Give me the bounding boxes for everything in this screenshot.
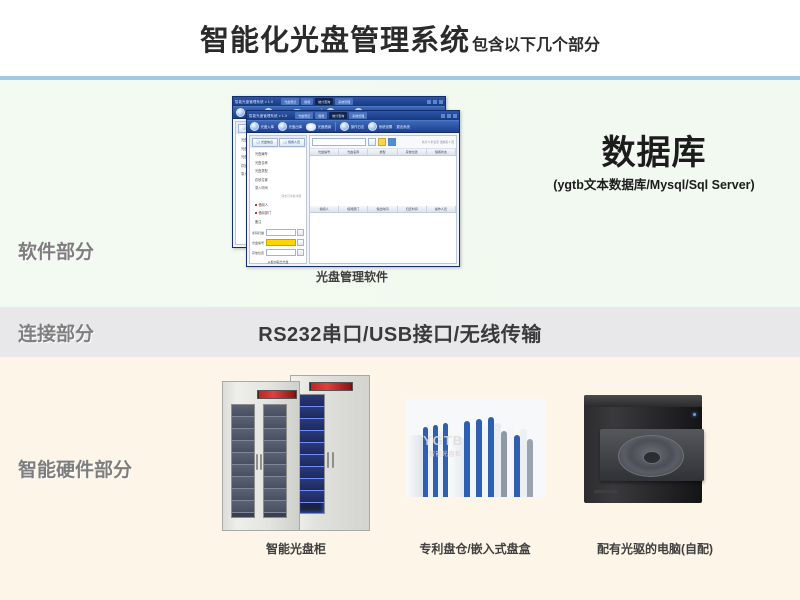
sidebar-tab-label: 借阅人员	[288, 140, 300, 144]
toolbar-label: 操作日志	[351, 124, 365, 129]
column-header: 光盘名称	[339, 149, 368, 155]
sidebar-field: 存放位置	[252, 177, 304, 182]
pc-front-slot	[594, 490, 618, 493]
page-title: 智能化光盘管理系统	[200, 17, 470, 59]
section-hardware: 智能硬件部分	[0, 357, 800, 600]
window-main-pane: 共计 0 条记录 当前第 1 页 光盘编号 光盘名称 类型 存放位置 借阅状态 …	[309, 135, 457, 264]
column-header: 归还时间	[398, 206, 427, 212]
grid-body-top[interactable]	[310, 156, 456, 206]
input-row-disc-no[interactable]: 光盘编号	[252, 239, 304, 247]
disc-no-input[interactable]	[266, 239, 296, 247]
pc-top-panel	[584, 395, 702, 407]
cabinet-left	[222, 381, 300, 531]
sidebar-field: 录入时间	[252, 185, 304, 190]
window-tab[interactable]: 借阅	[301, 98, 313, 105]
disc-in-icon	[236, 108, 245, 117]
toolbar-button-exit[interactable]: 退出系统	[396, 124, 410, 129]
watermark-subtext: 智能光盘柜	[429, 449, 462, 458]
power-led-icon	[693, 413, 696, 416]
grid-header-top: 光盘编号 光盘名称 类型 存放位置 借阅状态	[310, 149, 456, 156]
window-tab[interactable]: 统计查询	[315, 98, 333, 105]
cabinet-glass-door	[297, 394, 325, 514]
cabinet-glass-door	[263, 404, 287, 518]
toolbar-button-disc-borrow[interactable]: 光盘借阅	[306, 123, 331, 131]
window-toolbar[interactable]: 光盘入库 光盘出库 光盘借阅 操作日志 系统设置 退出系统	[247, 120, 459, 133]
toolbar-label: 光盘入库	[261, 124, 275, 129]
disc-in-icon	[250, 122, 259, 131]
window-titlebar: 智能光盘管理系统 v 1.0 光盘登记 借阅 统计查询 系统管理	[247, 111, 459, 120]
software-content: 智能光盘管理系统 v 1.0 光盘登记 借阅 统计查询 系统管理 光盘入库 光盘…	[0, 80, 800, 307]
window-controls[interactable]	[427, 100, 443, 104]
sidebar-field: 光盘名称	[252, 160, 304, 165]
disc-icon	[256, 140, 260, 144]
window-body: 光盘信息 借阅人员 光盘编号 光盘名称 光盘类型 存放位置 录入时间 双击可查看…	[247, 133, 459, 266]
hardware-image-computer	[578, 395, 710, 507]
disc-platter	[618, 435, 684, 477]
column-header: 借阅人	[310, 206, 339, 212]
sidebar-tabs[interactable]: 光盘信息 借阅人员	[250, 136, 306, 148]
database-block: 数据库 (ygtb文本数据库/Mysql/Sql Server)	[508, 135, 800, 193]
toolbar-label: 光盘借阅	[318, 124, 332, 129]
input-row-barcode[interactable]: 条码扫描	[252, 229, 304, 237]
window-titlebar: 智能光盘管理系统 v 1.0 光盘登记 借阅 统计查询 系统管理	[233, 97, 445, 106]
disc-borrow-icon	[306, 123, 316, 131]
sidebar-action-link[interactable]: 从柜中取出光盘	[252, 259, 304, 266]
maximize-icon[interactable]	[433, 100, 437, 104]
toolbar-label: 光盘出库	[289, 124, 303, 129]
column-header: 借出时间	[368, 206, 397, 212]
window-tab[interactable]: 系统管理	[335, 98, 353, 105]
sidebar-field: 借阅人	[252, 202, 304, 207]
cabinet-glass-door	[231, 404, 255, 518]
close-icon[interactable]	[439, 100, 443, 104]
watermark-text: YGTB	[423, 433, 463, 448]
diagram-page: 智能化光盘管理系统 包含以下几个部分 智能光盘管理系统 v 1.0 光盘登记 借…	[0, 0, 800, 600]
sidebar-field: 借阅部门	[252, 210, 304, 215]
window-tabs[interactable]: 光盘登记 借阅 统计查询 系统管理	[295, 112, 367, 119]
hardware-image-cabinet	[222, 375, 372, 535]
database-title: 数据库	[508, 135, 800, 172]
hardware-image-disc-trays: YGTB 智能光盘柜	[405, 399, 545, 497]
input-label: 光盘编号	[252, 241, 264, 245]
pick-button[interactable]	[297, 239, 304, 247]
input-label: 存放位置	[252, 251, 264, 255]
sidebar-tab-borrower[interactable]: 借阅人员	[279, 138, 305, 147]
gear-icon	[368, 122, 377, 131]
led-display	[257, 390, 297, 399]
hardware-items: YGTB 智能光盘柜 智能光盘柜 专利盘仓/嵌入式盘盒 配有光驱的电脑(自配)	[0, 357, 800, 600]
minimize-icon[interactable]	[441, 114, 445, 118]
window-sidebar[interactable]: 光盘信息 借阅人员 光盘编号 光盘名称 光盘类型 存放位置 录入时间 双击可查看…	[249, 135, 307, 264]
export-icon[interactable]	[378, 138, 386, 146]
hardware-caption-computer: 配有光驱的电脑(自配)	[545, 540, 765, 557]
title-wrap: 智能化光盘管理系统 包含以下几个部分	[200, 17, 600, 59]
window-title: 智能光盘管理系统 v 1.0	[235, 99, 273, 104]
toolbar-label: 退出系统	[396, 124, 410, 129]
section-label-software: 软件部分	[18, 237, 94, 264]
section-software: 智能光盘管理系统 v 1.0 光盘登记 借阅 统计查询 系统管理 光盘入库 光盘…	[0, 80, 800, 307]
search-hint: 共计 0 条记录 当前第 1 页	[422, 140, 454, 144]
cabinet-right	[290, 375, 370, 531]
window-tab[interactable]: 系统管理	[349, 112, 367, 119]
sidebar-field: 光盘编号	[252, 151, 304, 156]
led-display	[309, 382, 353, 391]
toolbar-label: 系统设置	[379, 124, 393, 129]
page-header: 智能化光盘管理系统 包含以下几个部分	[0, 0, 800, 76]
cabinet-handle	[256, 454, 258, 470]
hardware-caption-cabinet: 智能光盘柜	[196, 540, 396, 557]
search-input[interactable]	[312, 138, 366, 146]
disc-out-icon	[278, 122, 287, 131]
sidebar-note: 双击可查看详细	[252, 194, 304, 198]
column-header: 借阅部门	[339, 206, 368, 212]
window-tab[interactable]: 统计查询	[329, 112, 347, 119]
grid-header-bottom: 借阅人 借阅部门 借出时间 归还时间 操作人员	[310, 206, 456, 213]
column-header: 操作人员	[427, 206, 456, 212]
window-tab[interactable]: 光盘登记	[295, 112, 313, 119]
minimize-icon[interactable]	[427, 100, 431, 104]
section-connection: 连接部分 RS232串口/USB接口/无线传输	[0, 307, 800, 357]
sidebar-field: 光盘类型	[252, 168, 304, 173]
column-header: 光盘编号	[310, 149, 339, 155]
locate-button[interactable]	[297, 249, 304, 257]
toolbar-button-log[interactable]: 操作日志	[340, 122, 364, 131]
sidebar-field-list: 光盘编号 光盘名称 光盘类型 存放位置 录入时间 双击可查看详细 借阅人 借阅部…	[250, 148, 306, 227]
page-subtitle: 包含以下几个部分	[472, 31, 600, 55]
close-icon[interactable]	[453, 114, 457, 118]
search-icon[interactable]	[368, 138, 376, 146]
sidebar-field: 备注	[252, 219, 304, 224]
user-icon	[283, 140, 287, 144]
scan-button[interactable]	[297, 229, 304, 237]
column-header: 借阅状态	[427, 149, 456, 155]
location-input[interactable]	[266, 249, 296, 257]
maximize-icon[interactable]	[447, 114, 451, 118]
search-bar[interactable]: 共计 0 条记录 当前第 1 页	[310, 136, 456, 149]
cabinet-handle	[260, 454, 262, 470]
input-row-location[interactable]: 存放位置	[252, 249, 304, 257]
grid-body-bottom[interactable]	[310, 213, 456, 263]
cabinet-handle	[332, 452, 334, 468]
log-icon	[340, 122, 349, 131]
software-caption: 光盘管理软件	[246, 268, 458, 285]
column-header: 类型	[368, 149, 397, 155]
sidebar-tab-disc-info[interactable]: 光盘信息	[252, 138, 278, 147]
input-label: 条码扫描	[252, 231, 264, 235]
window-title: 智能光盘管理系统 v 1.0	[249, 113, 287, 118]
print-icon[interactable]	[388, 138, 396, 146]
window-controls[interactable]	[441, 114, 457, 118]
barcode-input[interactable]	[266, 229, 296, 237]
cabinet-handle	[327, 452, 329, 468]
column-header: 存放位置	[398, 149, 427, 155]
database-subtitle: (ygtb文本数据库/Mysql/Sql Server)	[508, 174, 800, 193]
app-window-front[interactable]: 智能光盘管理系统 v 1.0 光盘登记 借阅 统计查询 系统管理 光盘入库 光盘…	[246, 110, 460, 267]
window-tab[interactable]: 光盘登记	[281, 98, 299, 105]
window-tabs[interactable]: 光盘登记 借阅 统计查询 系统管理	[281, 98, 353, 105]
window-tab[interactable]: 借阅	[315, 112, 327, 119]
optical-drive-tray	[600, 429, 704, 481]
toolbar-button-settings[interactable]: 系统设置	[368, 122, 392, 131]
sidebar-inputs[interactable]: 条码扫描 光盘编号 存放位置 从柜中取出光盘	[250, 227, 306, 267]
toolbar-button-disc-in[interactable]: 光盘入库	[250, 122, 274, 131]
disc-hub	[643, 451, 661, 464]
toolbar-button-disc-out[interactable]: 光盘出库	[278, 122, 302, 131]
sidebar-tab-label: 光盘信息	[261, 140, 273, 144]
toolbar-separator	[335, 122, 336, 131]
connection-text: RS232串口/USB接口/无线传输	[0, 307, 800, 357]
